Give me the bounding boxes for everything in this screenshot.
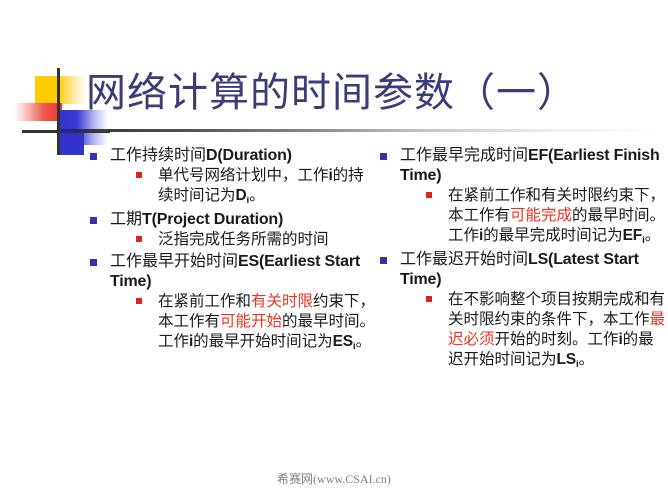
bullet-item-latest-start-detail: 在不影响整个项目按期完成和有关时限约束的条件下，本工作最迟必须开始的时刻。工作i… (424, 290, 668, 372)
bullet-item-earliest-start-detail: 在紧前工作和有关时限约束下，本工作有可能开始的最早时间。工作i的最早开始时间记为… (134, 292, 378, 354)
sub-bullet-list: 泛指完成任务所需的时间 (110, 230, 378, 250)
latin-term: EF (623, 227, 642, 244)
content-columns: 工作持续时间D(Duration)单代号网络计划中，工作i的持续时间记为Di。工… (0, 146, 668, 456)
bullet-text: 工作最迟开始时间LS(Latest Start Time) (400, 250, 668, 290)
latin-term: LS (557, 351, 576, 368)
subscript: i (247, 195, 250, 206)
bullet-square-blue-icon (90, 217, 97, 224)
sub-bullet-list: 单代号网络计划中，工作i的持续时间记为Di。 (110, 166, 378, 208)
bullet-item-earliest-start: 工作最早开始时间ES(Earliest Start Time)在紧前工作和有关时… (88, 252, 378, 354)
highlighted-term: 可能完成 (510, 207, 572, 224)
bullet-text: 工作最早开始时间ES(Earliest Start Time) (110, 252, 378, 292)
bullet-item-duration: 工作持续时间D(Duration)单代号网络计划中，工作i的持续时间记为Di。 (88, 146, 378, 208)
text-run: 工作最早开始时间 (110, 253, 238, 270)
text-run: 工作最迟开始时间 (400, 251, 528, 268)
bullet-square-blue-icon (90, 153, 97, 160)
latin-term: D(Duration) (206, 147, 292, 164)
bullet-item-latest-start: 工作最迟开始时间LS(Latest Start Time)在不影响整个项目按期完… (378, 250, 668, 372)
sub-bullet-list: 在不影响整个项目按期完成和有关时限约束的条件下，本工作最迟必须开始的时刻。工作i… (400, 290, 668, 372)
bullet-item-earliest-finish: 工作最早完成时间EF(Earliest Finish Time)在紧前工作和有关… (378, 146, 668, 248)
bullet-square-blue-icon (90, 259, 97, 266)
bullet-text: 工作持续时间D(Duration) (110, 146, 378, 166)
text-run: 工作持续时间 (110, 147, 206, 164)
sub-bullet-list: 在紧前工作和有关时限约束下，本工作有可能完成的最早时间。工作i的最早完成时间记为… (400, 186, 668, 248)
bullet-item-duration-detail: 单代号网络计划中，工作i的持续时间记为Di。 (134, 166, 378, 208)
bullet-text: 泛指完成任务所需的时间 (158, 230, 378, 250)
content-column-right: 工作最早完成时间EF(Earliest Finish Time)在紧前工作和有关… (378, 146, 668, 374)
title-underline-rule (62, 129, 662, 132)
bullet-item-project-duration: 工期T(Project Duration)泛指完成任务所需的时间 (88, 210, 378, 250)
latin-term: D (236, 187, 247, 204)
bullet-item-project-duration-detail: 泛指完成任务所需的时间 (134, 230, 378, 250)
page-title: 网络计算的时间参数（一） (86, 64, 656, 122)
bullet-square-blue-icon (380, 257, 387, 264)
slide-canvas: 网络计算的时间参数（一） 工作持续时间D(Duration)单代号网络计划中，工… (0, 0, 668, 500)
text-run: 单代号网络计划中，工作 (158, 167, 329, 184)
bullet-list-right: 工作最早完成时间EF(Earliest Finish Time)在紧前工作和有关… (378, 146, 668, 372)
bullet-square-red-icon (426, 296, 432, 302)
subscript: i (642, 235, 645, 246)
sub-bullet-list: 在紧前工作和有关时限约束下，本工作有可能开始的最早时间。工作i的最早开始时间记为… (110, 292, 378, 354)
content-column-left: 工作持续时间D(Duration)单代号网络计划中，工作i的持续时间记为Di。工… (88, 146, 378, 356)
bullet-list-left: 工作持续时间D(Duration)单代号网络计划中，工作i的持续时间记为Di。工… (88, 146, 378, 354)
highlighted-term: 有关时限 (251, 293, 313, 310)
bullet-square-red-icon (136, 236, 142, 242)
red-square-icon (14, 103, 62, 121)
text-run: 的最早开始时间记为 (193, 333, 333, 350)
text-run: 的最早完成时间记为 (483, 227, 623, 244)
bullet-text: 在紧前工作和有关时限约束下，本工作有可能完成的最早时间。工作i的最早完成时间记为… (448, 186, 668, 248)
bullet-text: 单代号网络计划中，工作i的持续时间记为Di。 (158, 166, 378, 208)
text-run: 开始的时刻。工作 (495, 331, 619, 348)
text-run: 。 (249, 187, 265, 204)
latin-term: T(Project Duration) (142, 211, 283, 228)
text-run: 在紧前工作和 (158, 293, 251, 310)
subscript: i (576, 359, 579, 370)
bullet-text: 在不影响整个项目按期完成和有关时限约束的条件下，本工作最迟必须开始的时刻。工作i… (448, 290, 668, 372)
yellow-square-icon (35, 76, 87, 104)
bullet-square-red-icon (426, 192, 432, 198)
text-run: 泛指完成任务所需的时间 (158, 231, 329, 248)
text-run: 工期 (110, 211, 142, 228)
bullet-square-red-icon (136, 298, 142, 304)
bullet-text: 在紧前工作和有关时限约束下，本工作有可能开始的最早时间。工作i的最早开始时间记为… (158, 292, 378, 354)
text-run: 工作最早完成时间 (400, 147, 528, 164)
text-run: 在不影响整个项目按期完成和有关时限约束的条件下，本工作 (448, 291, 665, 328)
bullet-item-earliest-finish-detail: 在紧前工作和有关时限约束下，本工作有可能完成的最早时间。工作i的最早完成时间记为… (424, 186, 668, 248)
subscript: i (353, 341, 356, 352)
text-run: 。 (645, 227, 661, 244)
bullet-square-blue-icon (380, 153, 387, 160)
bullet-text: 工期T(Project Duration) (110, 210, 378, 230)
footer-watermark: 希赛网(www.CSAI.cn) (0, 472, 668, 486)
bullet-square-red-icon (136, 172, 142, 178)
highlighted-term: 可能开始 (220, 313, 282, 330)
bullet-text: 工作最早完成时间EF(Earliest Finish Time) (400, 146, 668, 186)
vertical-bar-icon (57, 68, 60, 155)
latin-term: ES (333, 333, 353, 350)
text-run: 。 (356, 333, 372, 350)
text-run: 。 (579, 351, 595, 368)
